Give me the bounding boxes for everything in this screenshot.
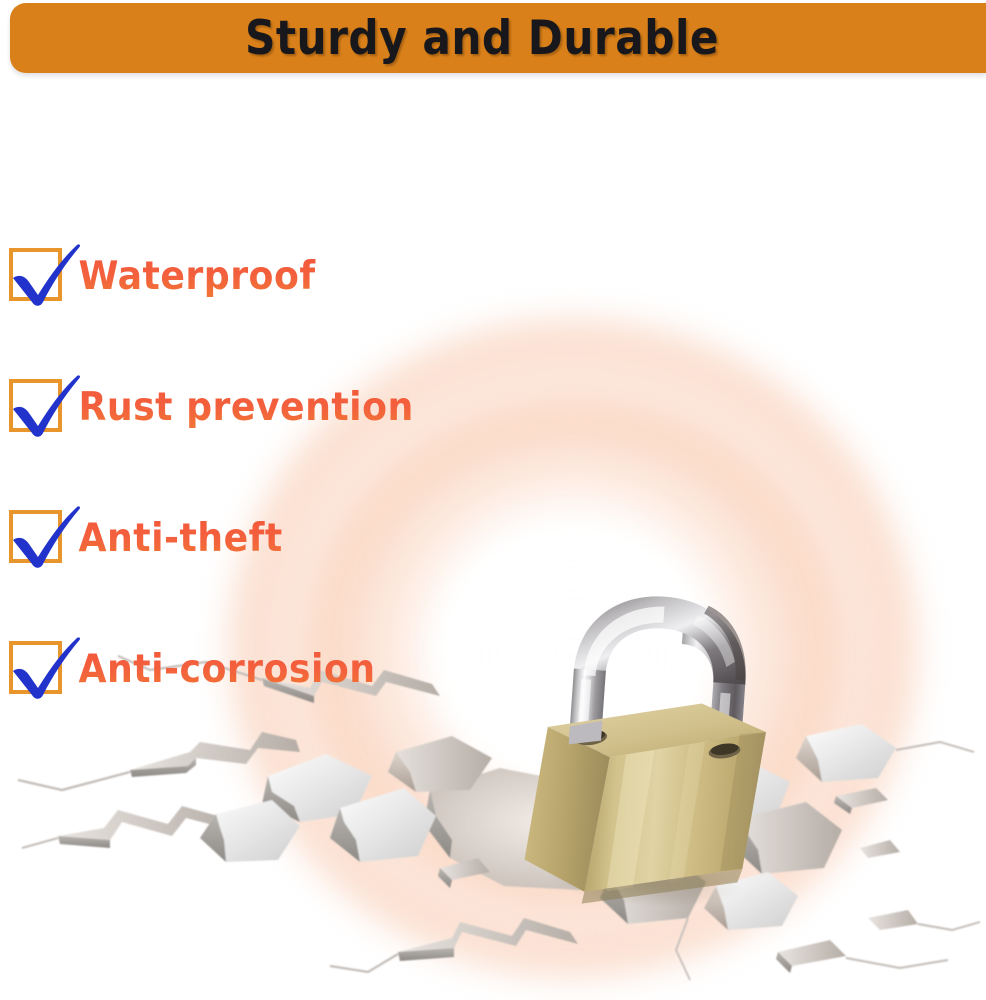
feature-item-rust-prevention[interactable]: Rust prevention [0,371,520,502]
feature-label: Anti-corrosion [71,639,376,701]
checkbox-checked-icon[interactable] [9,641,71,703]
feature-label: Rust prevention [71,377,414,439]
feature-checklist: Waterproof Rust prevention Anti-theft [0,240,520,764]
feature-item-anti-theft[interactable]: Anti-theft [0,502,520,633]
checkbox-checked-icon[interactable] [9,510,71,572]
feature-item-waterproof[interactable]: Waterproof [0,240,520,371]
feature-item-anti-corrosion[interactable]: Anti-corrosion [0,633,520,764]
header-banner: Sturdy and Durable [10,3,986,73]
checkbox-checked-icon[interactable] [9,379,71,441]
checkbox-checked-icon[interactable] [9,248,71,310]
padlock-product-image [492,482,821,922]
feature-label: Anti-theft [71,508,283,570]
page-title: Sturdy and Durable [57,3,907,73]
product-feature-banner: Waterproof Rust prevention Anti-theft [0,0,986,1000]
feature-label: Waterproof [71,246,316,308]
